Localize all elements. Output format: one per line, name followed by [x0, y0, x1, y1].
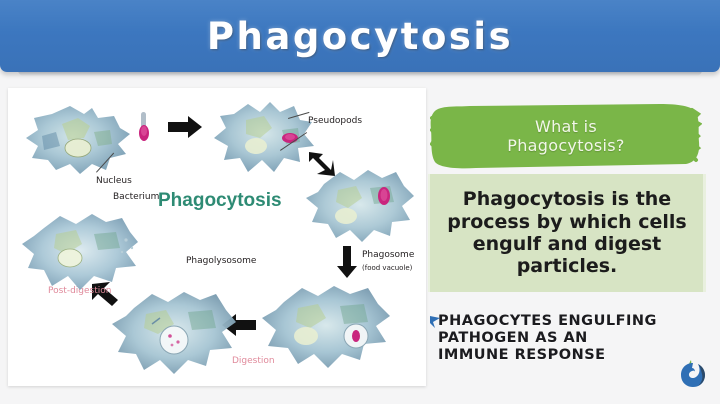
brush-heading-line2: Phagocytosis?: [507, 137, 624, 155]
definition-panel: Phagocytosis is the process by which cel…: [428, 174, 706, 292]
bacterium-rod: [138, 110, 150, 142]
cell-phagolysosome: [112, 284, 238, 380]
cell-phagosome: [260, 280, 392, 374]
page-title: Phagocytosis: [207, 15, 513, 58]
label-pseudopods: Pseudopods: [308, 116, 362, 126]
phagocytosis-diagram: Bacterium Nucleus: [8, 88, 426, 386]
sidebar-brush-heading: What is Phagocytosis?: [430, 102, 702, 170]
label-nucleus: Nucleus: [96, 176, 132, 186]
caption-block: PHAGOCYTES ENGULFING PATHOGEN AS AN IMMU…: [438, 313, 706, 363]
diagram-center-title: Phagocytosis: [158, 190, 282, 212]
caption-line-1: PHAGOCYTES ENGULFING: [438, 313, 706, 330]
label-digestion: Digestion: [232, 356, 275, 366]
label-phagosome: Phagosome: [362, 250, 414, 260]
label-phagosome-sub: (food vacuole): [362, 264, 412, 272]
diagram-card: Bacterium Nucleus: [8, 88, 426, 386]
brand-logo-icon[interactable]: [678, 358, 708, 388]
label-phagolysosome: Phagolysosome: [186, 256, 256, 266]
caption-marker-icon: [430, 315, 440, 327]
arrow-step-1: [168, 116, 202, 138]
caption-line-3: IMMUNE RESPONSE: [438, 347, 706, 364]
label-bacterium: Bacterium: [113, 192, 159, 202]
cell-resting-phagocyte: [22, 102, 134, 182]
brush-heading-line1: What is: [535, 118, 597, 136]
cell-engulfed-bacterium: [304, 166, 416, 250]
header-banner: Phagocytosis: [0, 0, 720, 72]
definition-text: Phagocytosis is the process by which cel…: [434, 188, 700, 278]
arrow-step-3: [336, 246, 358, 278]
cell-post-digestion: [22, 210, 140, 294]
caption-line-2: PATHOGEN AS AN: [438, 330, 706, 347]
slide-root: Phagocytosis: [0, 0, 720, 404]
